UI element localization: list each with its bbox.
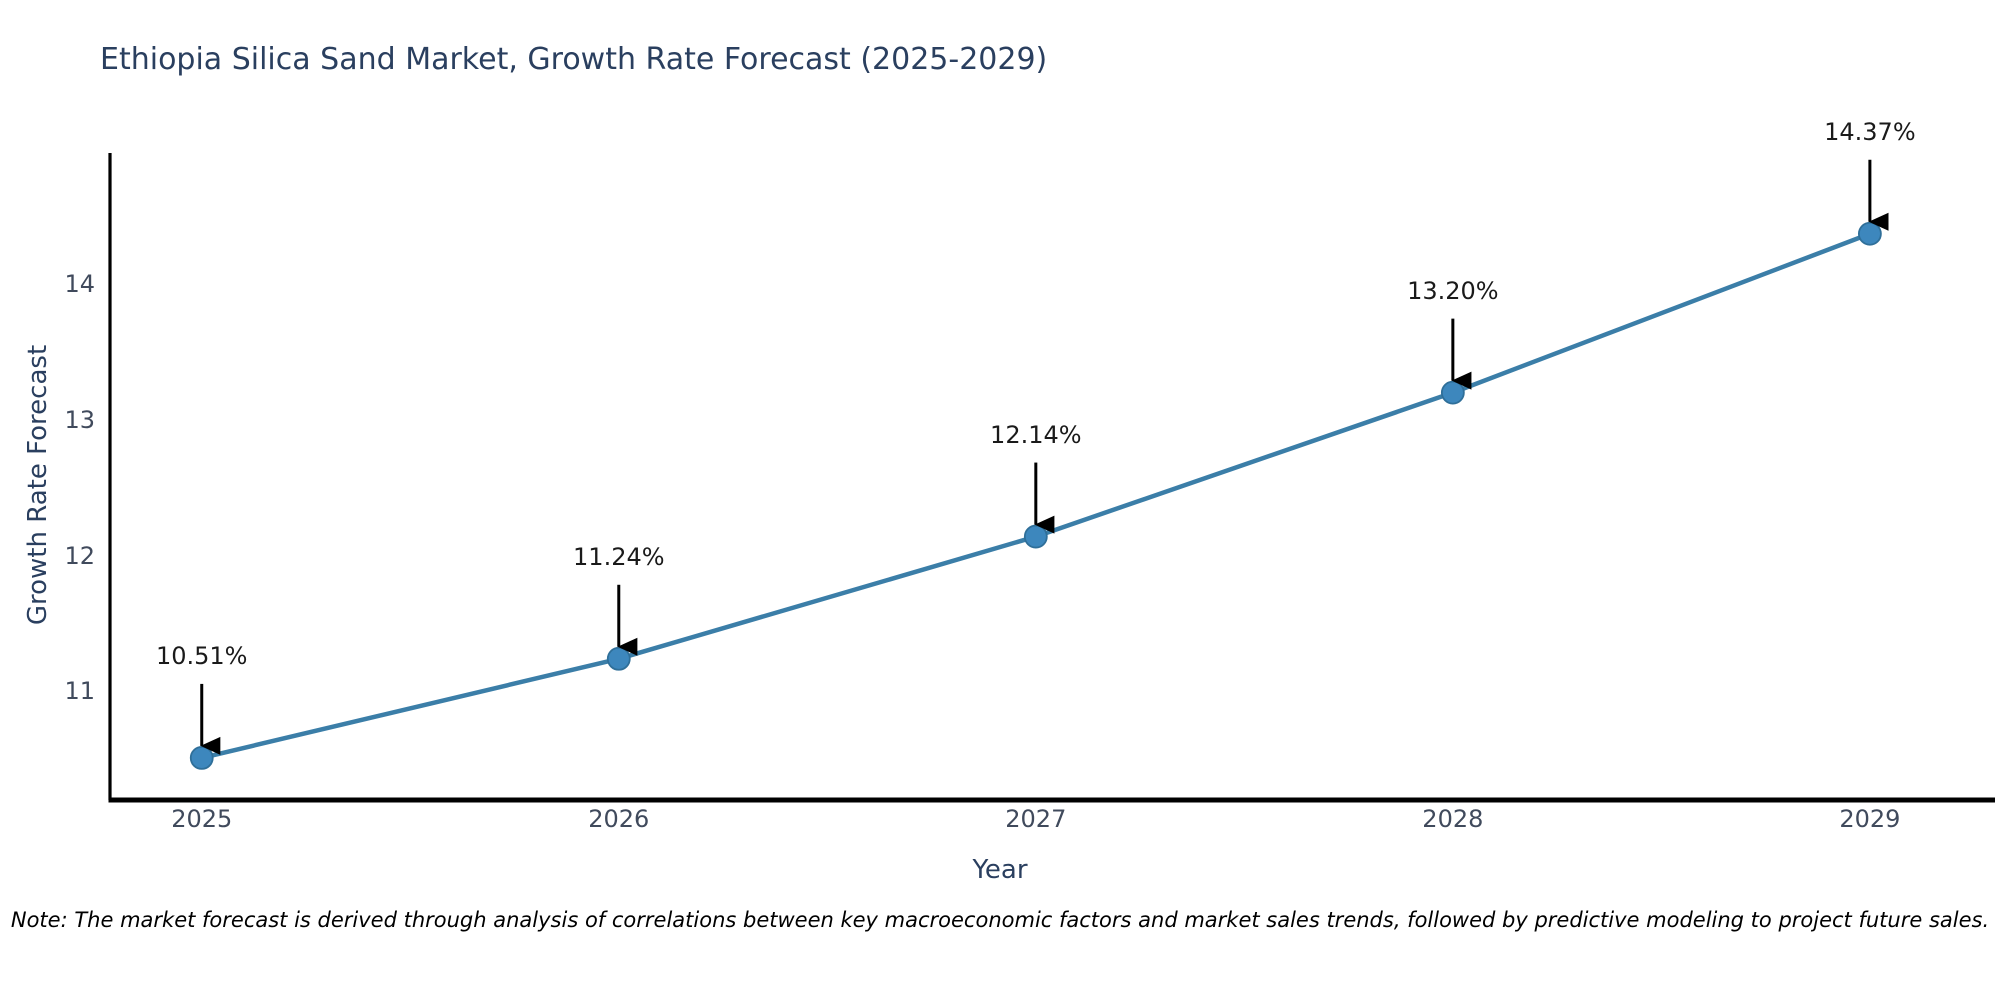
data-point-annotation: 14.37% (1824, 118, 1916, 146)
chart-footnote: Note: The market forecast is derived thr… (0, 908, 2000, 932)
plot-area (0, 0, 2000, 1000)
data-point-annotation: 11.24% (573, 543, 665, 571)
axis-spines (109, 153, 1996, 800)
annotation-arrows (202, 160, 1870, 746)
chart-figure: Ethiopia Silica Sand Market, Growth Rate… (0, 0, 2000, 1000)
data-point-annotation: 10.51% (156, 642, 248, 670)
data-point-annotation: 13.20% (1407, 277, 1499, 305)
data-point-annotation: 12.14% (990, 421, 1082, 449)
